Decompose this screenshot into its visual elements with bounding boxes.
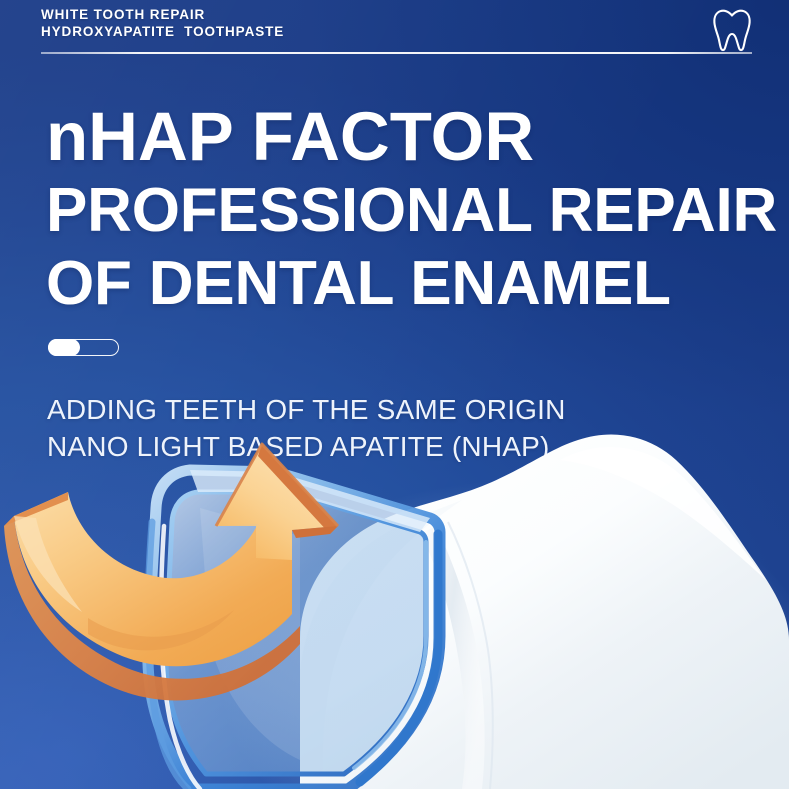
headline-line-2: PROFESSIONAL REPAIR: [46, 174, 746, 247]
body-copy-line-1: ADDING TEETH OF THE SAME ORIGIN: [47, 391, 687, 428]
headline-line-1: nHAP FACTOR: [46, 100, 746, 174]
headline-block: nHAP FACTOR PROFESSIONAL REPAIR OF DENTA…: [46, 100, 746, 320]
headline-line-3: OF DENTAL ENAMEL: [46, 247, 746, 320]
banner-header: WHITE TOOTH REPAIR HYDROXYAPATITE TOOTHP…: [41, 7, 753, 40]
header-brand-line-1: WHITE TOOTH REPAIR: [41, 7, 753, 24]
header-brand-line-2: HYDROXYAPATITE TOOTHPASTE: [41, 24, 753, 41]
tooth-shield-illustration: [0, 430, 789, 789]
pill-divider: [48, 339, 119, 356]
header-divider: [41, 52, 752, 54]
product-banner: WHITE TOOTH REPAIR HYDROXYAPATITE TOOTHP…: [0, 0, 789, 789]
tooth-icon: [711, 8, 753, 52]
pill-divider-fill: [48, 339, 80, 356]
